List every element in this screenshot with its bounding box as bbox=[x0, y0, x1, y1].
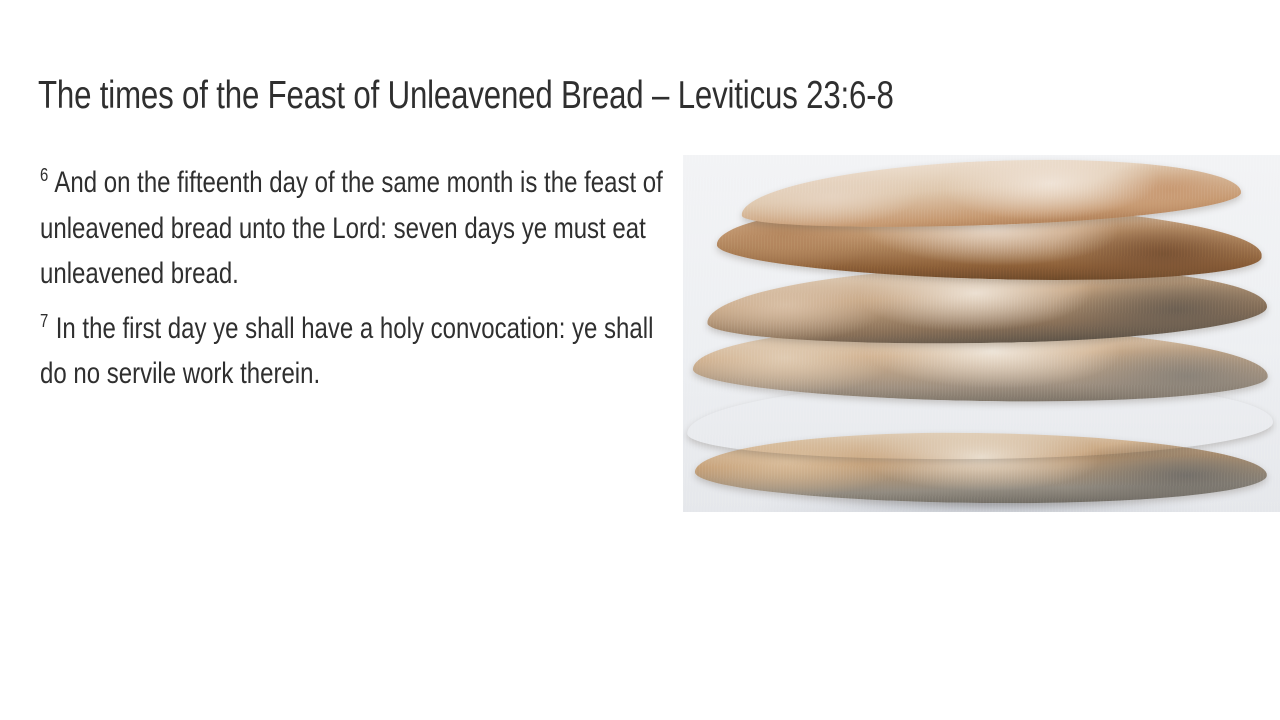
unleavened-bread-photo bbox=[683, 155, 1280, 512]
verse-body: In the first day ye shall have a holy co… bbox=[40, 312, 653, 391]
verse-paragraph: 6 And on the fifteenth day of the same m… bbox=[40, 160, 672, 297]
verse-body: And on the fifteenth day of the same mon… bbox=[40, 166, 663, 290]
page-title: The times of the Feast of Unleavened Bre… bbox=[38, 72, 934, 120]
verse-number: 6 bbox=[40, 164, 49, 185]
slide: The times of the Feast of Unleavened Bre… bbox=[0, 0, 1280, 720]
verse-number: 7 bbox=[40, 310, 49, 331]
verse-paragraph: 7 In the first day ye shall have a holy … bbox=[40, 306, 672, 397]
